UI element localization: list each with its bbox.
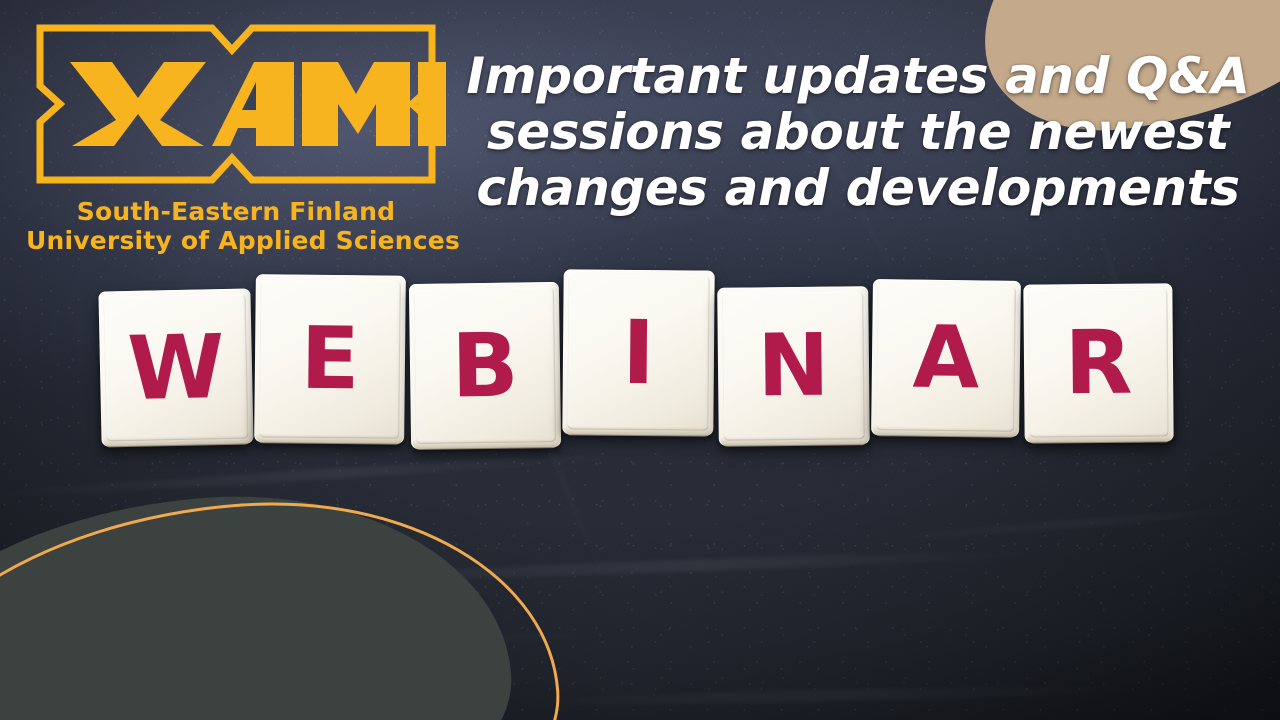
- webinar-letter-tiles: WEBINAR: [0, 0, 1280, 720]
- letter-tile-b: B: [409, 282, 561, 449]
- letter-tile-glyph: I: [562, 269, 714, 435]
- letter-tile-a: A: [871, 279, 1021, 437]
- letter-tile-w: W: [98, 288, 253, 446]
- webinar-banner: South-Eastern Finland University of Appl…: [0, 0, 1280, 720]
- letter-tile-r: R: [1023, 283, 1173, 442]
- letter-tile-i: I: [562, 269, 714, 435]
- letter-tile-glyph: W: [98, 288, 253, 446]
- letter-tile-n: N: [717, 286, 870, 446]
- letter-tile-glyph: R: [1023, 283, 1173, 442]
- letter-tile-glyph: A: [871, 279, 1021, 437]
- letter-tile-glyph: B: [409, 282, 561, 449]
- letter-tile-glyph: N: [717, 286, 870, 446]
- letter-tile-e: E: [254, 274, 406, 444]
- letter-tile-glyph: E: [254, 274, 406, 444]
